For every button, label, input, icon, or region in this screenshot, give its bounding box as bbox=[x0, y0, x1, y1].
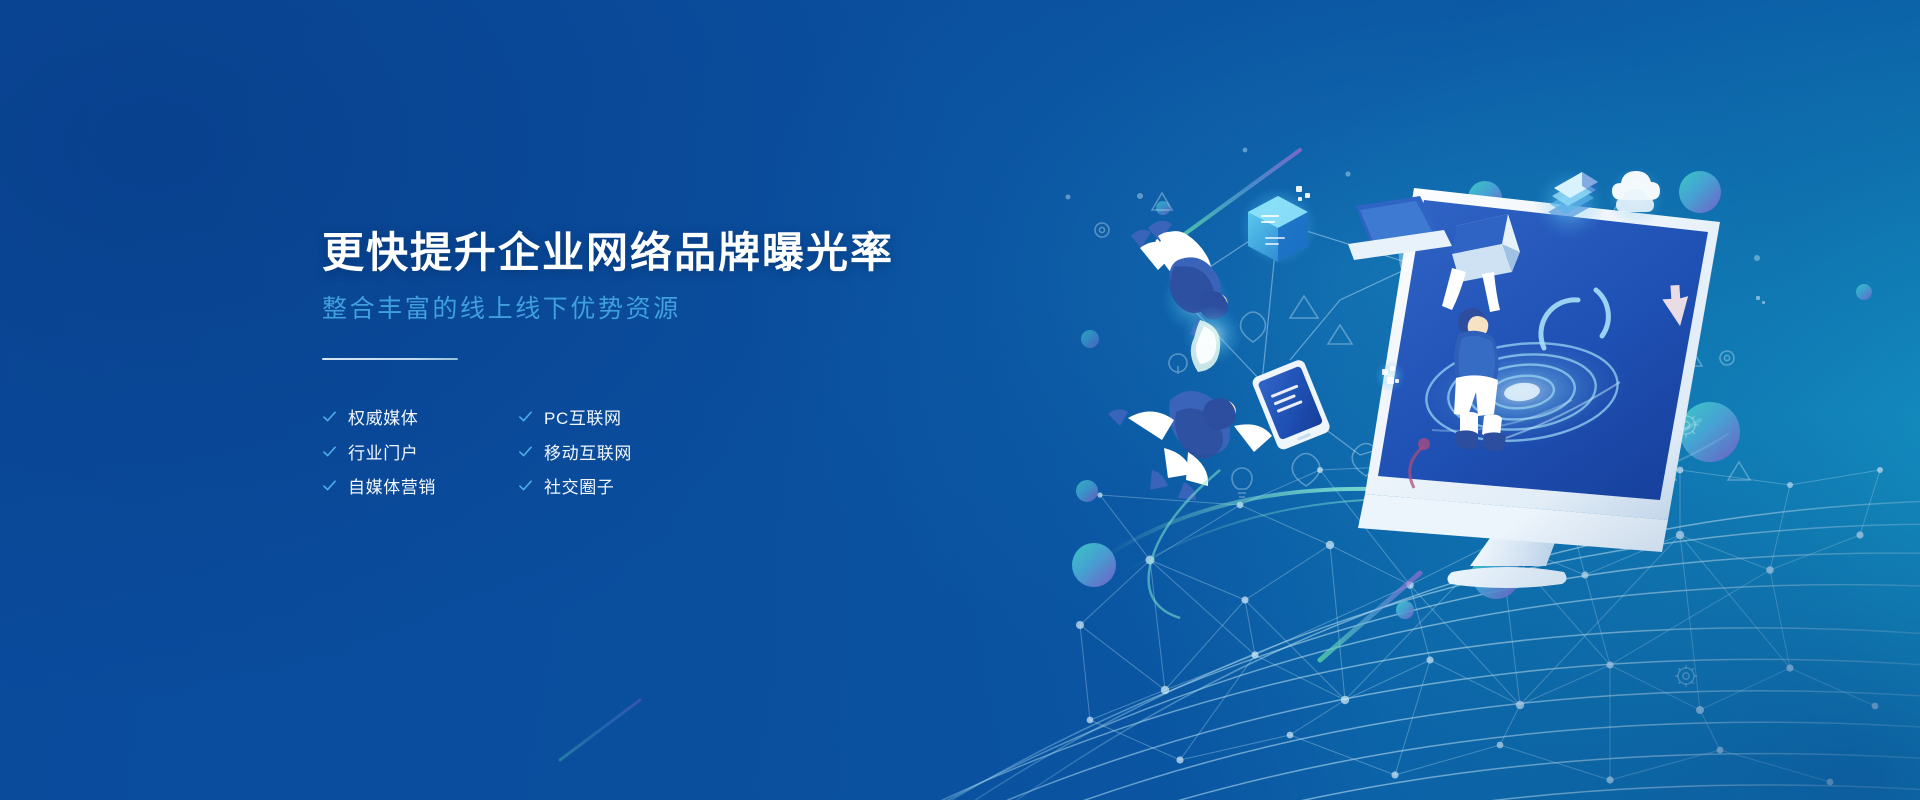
feature-item-self-media-marketing: 自媒体营销 bbox=[322, 473, 518, 498]
feature-label: 社交圈子 bbox=[544, 473, 614, 498]
check-icon bbox=[322, 444, 337, 459]
page-subtitle: 整合丰富的线上线下优势资源 bbox=[322, 294, 1022, 324]
feature-item-pc-internet: PC互联网 bbox=[518, 404, 1022, 429]
check-icon bbox=[518, 409, 533, 424]
page-title: 更快提升企业网络品牌曝光率 bbox=[322, 228, 1022, 278]
feature-label: PC互联网 bbox=[544, 404, 622, 429]
feature-label: 权威媒体 bbox=[348, 404, 418, 429]
feature-item-social-circle: 社交圈子 bbox=[518, 473, 1022, 498]
banner-copy: 更快提升企业网络品牌曝光率 整合丰富的线上线下优势资源 权威媒体 PC互联网 bbox=[322, 228, 1022, 503]
feature-label: 自媒体营销 bbox=[348, 473, 436, 498]
feature-item-authoritative-media: 权威媒体 bbox=[322, 404, 518, 429]
title-divider bbox=[322, 358, 458, 360]
feature-label: 行业门户 bbox=[348, 439, 418, 464]
feature-item-mobile-internet: 移动互联网 bbox=[518, 439, 1022, 464]
check-icon bbox=[518, 444, 533, 459]
promo-banner: 更快提升企业网络品牌曝光率 整合丰富的线上线下优势资源 权威媒体 PC互联网 bbox=[0, 0, 1920, 800]
check-icon bbox=[322, 478, 337, 493]
feature-label: 移动互联网 bbox=[544, 439, 632, 464]
check-icon bbox=[322, 409, 337, 424]
feature-list: 权威媒体 PC互联网 行业门户 移动互联网 bbox=[322, 400, 1022, 504]
feature-item-industry-portal: 行业门户 bbox=[322, 439, 518, 464]
check-icon bbox=[518, 478, 533, 493]
